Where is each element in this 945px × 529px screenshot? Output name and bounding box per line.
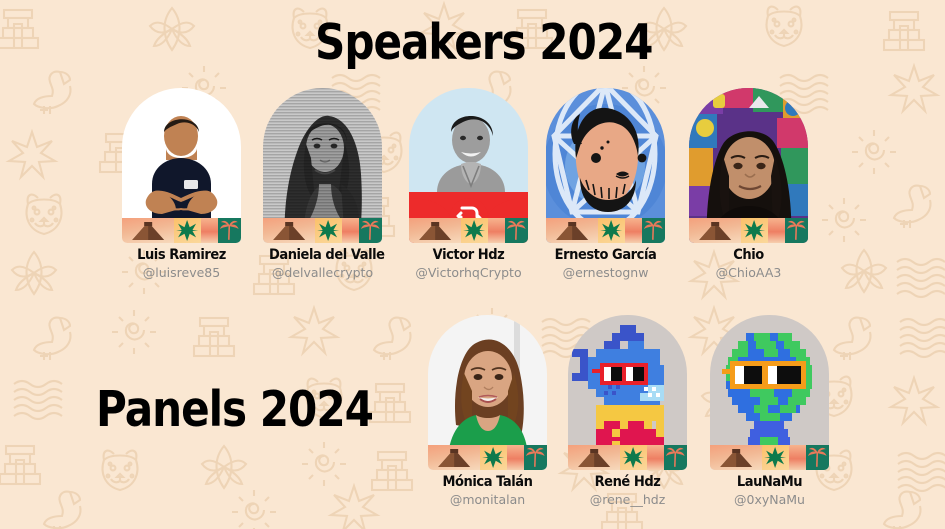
speaker-card-victor-hdz[interactable]: Victor Hdz @VictorhqCrypto bbox=[409, 88, 528, 280]
tile-strip bbox=[568, 445, 687, 470]
panelist-handle[interactable]: @monitalan bbox=[428, 492, 547, 507]
speaker-handle[interactable]: @ChioAA3 bbox=[689, 265, 808, 280]
star-icon bbox=[741, 218, 767, 243]
speaker-name: Ernesto García bbox=[552, 247, 659, 264]
tile-strip bbox=[409, 218, 528, 243]
palm-icon bbox=[664, 445, 687, 470]
tile-strip bbox=[710, 445, 829, 470]
speaker-names: Victor Hdz @VictorhqCrypto bbox=[409, 247, 528, 280]
palm-icon bbox=[359, 218, 382, 243]
sunset-icon bbox=[342, 218, 360, 243]
pyramid-icon bbox=[263, 218, 315, 243]
sunset-icon bbox=[647, 445, 665, 470]
sunset-icon bbox=[201, 218, 219, 243]
speaker-card-luis-ramirez[interactable]: Luis Ramirez @luisreve85 bbox=[122, 88, 241, 280]
speaker-names: Luis Ramirez @luisreve85 bbox=[122, 247, 241, 280]
panelist-card-rene-hdz[interactable]: René Hdz @rene__hdz bbox=[568, 315, 687, 507]
palm-icon bbox=[505, 218, 528, 243]
tile-strip bbox=[546, 218, 665, 243]
avatar bbox=[409, 88, 528, 243]
star-icon bbox=[762, 445, 788, 470]
pyramid-icon bbox=[689, 218, 741, 243]
star-icon bbox=[174, 218, 200, 243]
speaker-name: Chio bbox=[695, 247, 802, 264]
pyramid-icon bbox=[409, 218, 461, 243]
palm-icon bbox=[806, 445, 829, 470]
pyramid-icon bbox=[710, 445, 762, 470]
panelist-handle[interactable]: @rene__hdz bbox=[568, 492, 687, 507]
panelist-names: Mónica Talán @monitalan bbox=[428, 474, 547, 507]
avatar bbox=[689, 88, 808, 243]
star-icon bbox=[620, 445, 646, 470]
panelist-names: René Hdz @rene__hdz bbox=[568, 474, 687, 507]
tile-strip bbox=[689, 218, 808, 243]
avatar bbox=[263, 88, 382, 243]
panelist-names: LauNaMu @0xyNaMu bbox=[710, 474, 829, 507]
star-icon bbox=[480, 445, 506, 470]
palm-icon bbox=[642, 218, 665, 243]
speaker-names: Daniela del Valle @delvallecrypto bbox=[263, 247, 382, 280]
palm-icon bbox=[785, 218, 808, 243]
palm-icon bbox=[218, 218, 241, 243]
tile-strip bbox=[122, 218, 241, 243]
sunset-icon bbox=[768, 218, 786, 243]
speaker-names: Chio @ChioAA3 bbox=[689, 247, 808, 280]
star-icon bbox=[598, 218, 624, 243]
sunset-icon bbox=[625, 218, 643, 243]
star-icon bbox=[315, 218, 341, 243]
star-icon bbox=[461, 218, 487, 243]
section-title-speakers: Speakers 2024 bbox=[315, 14, 652, 71]
speaker-handle[interactable]: @luisreve85 bbox=[122, 265, 241, 280]
speaker-name: Daniela del Valle bbox=[269, 247, 376, 264]
speaker-names: Ernesto García @ernestognw bbox=[546, 247, 665, 280]
pyramid-icon bbox=[568, 445, 620, 470]
speaker-name: Luis Ramirez bbox=[128, 247, 235, 264]
tile-strip bbox=[428, 445, 547, 470]
avatar bbox=[710, 315, 829, 470]
panelist-name: LauNaMu bbox=[716, 474, 823, 491]
sunset-icon bbox=[789, 445, 807, 470]
section-title-panels: Panels 2024 bbox=[96, 381, 373, 438]
panelist-card-launamu[interactable]: LauNaMu @0xyNaMu bbox=[710, 315, 829, 507]
speaker-card-ernesto-garcia[interactable]: Ernesto García @ernestognw bbox=[546, 88, 665, 280]
pyramid-icon bbox=[122, 218, 174, 243]
pyramid-icon bbox=[428, 445, 480, 470]
sunset-icon bbox=[507, 445, 525, 470]
avatar bbox=[546, 88, 665, 243]
panelist-name: Mónica Talán bbox=[434, 474, 541, 491]
tile-strip bbox=[263, 218, 382, 243]
speaker-card-daniela-del-valle[interactable]: Daniela del Valle @delvallecrypto bbox=[263, 88, 382, 280]
panelist-name: René Hdz bbox=[574, 474, 681, 491]
speaker-card-chio[interactable]: Chio @ChioAA3 bbox=[689, 88, 808, 280]
panelist-handle[interactable]: @0xyNaMu bbox=[710, 492, 829, 507]
palm-icon bbox=[524, 445, 547, 470]
speaker-handle[interactable]: @ernestognw bbox=[546, 265, 665, 280]
avatar bbox=[122, 88, 241, 243]
panelist-card-monica-talan[interactable]: Mónica Talán @monitalan bbox=[428, 315, 547, 507]
sunset-icon bbox=[488, 218, 506, 243]
speaker-name: Victor Hdz bbox=[415, 247, 522, 264]
speaker-handle[interactable]: @delvallecrypto bbox=[263, 265, 382, 280]
pyramid-icon bbox=[546, 218, 598, 243]
avatar bbox=[428, 315, 547, 470]
speaker-handle[interactable]: @VictorhqCrypto bbox=[409, 265, 528, 280]
avatar bbox=[568, 315, 687, 470]
